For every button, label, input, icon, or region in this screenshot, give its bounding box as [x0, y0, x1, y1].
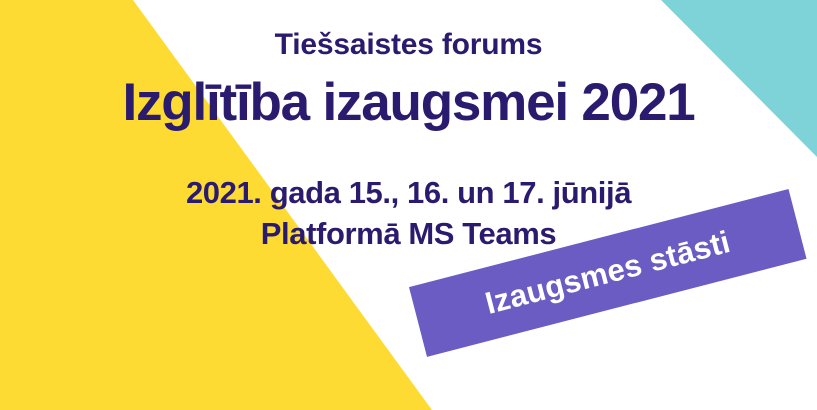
event-poster: Izaugsmes stāsti Tiešsaistes forums Izgl… — [0, 0, 817, 410]
poster-details: 2021. gada 15., 16. un 17. jūnijā Platfo… — [186, 173, 631, 255]
event-date-line: 2021. gada 15., 16. un 17. jūnijā — [186, 173, 631, 214]
poster-headline: Izglītība izaugsmei 2021 — [122, 75, 694, 131]
poster-content: Tiešsaistes forums Izglītība izaugsmei 2… — [0, 0, 817, 410]
poster-kicker: Tiešsaistes forums — [275, 28, 543, 61]
